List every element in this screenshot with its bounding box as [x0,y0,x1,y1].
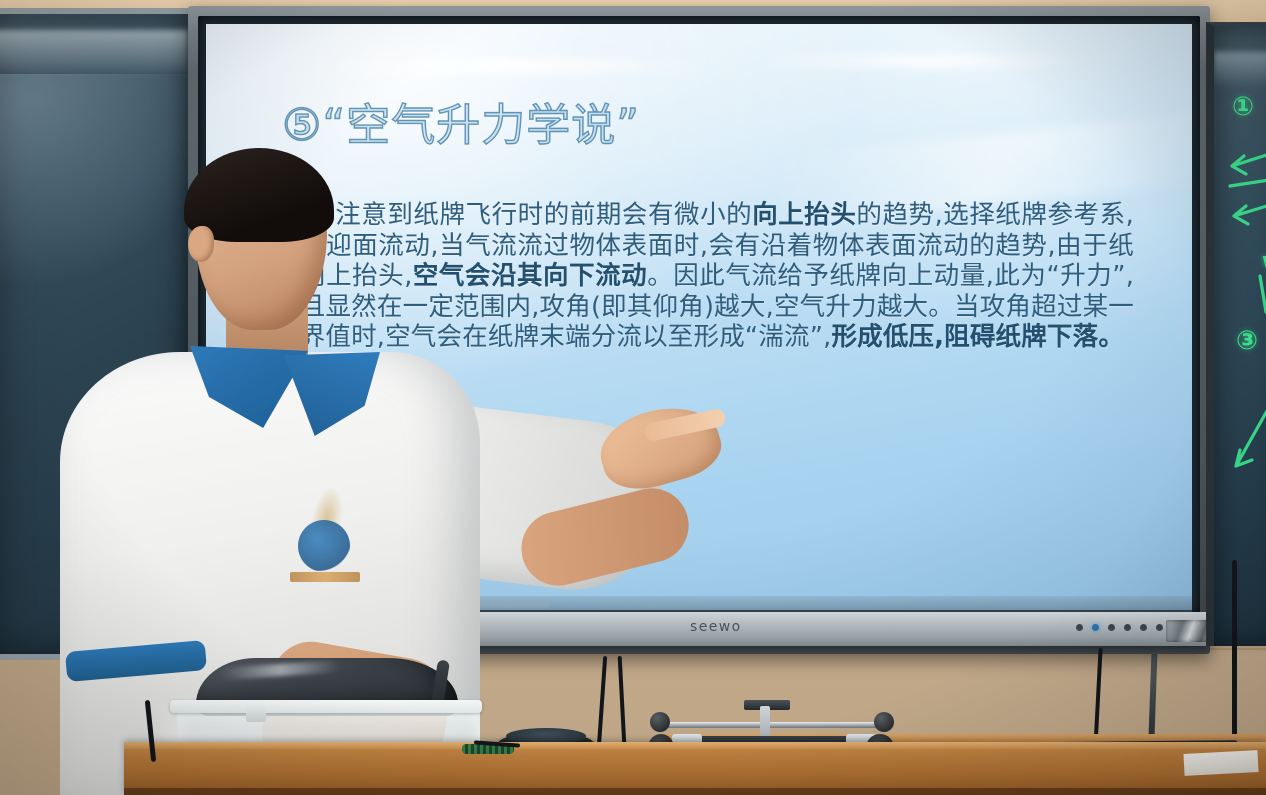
indicator-dot[interactable] [1140,624,1147,631]
indicator-dot-power[interactable] [1092,624,1099,631]
presenter-ear [188,226,214,262]
apparatus-knob-right [874,712,894,732]
panel-indicator-dots[interactable] [1076,624,1179,631]
cable [1232,560,1237,750]
board-glare [0,30,188,74]
paper-sheet-prop [1183,750,1258,776]
indicator-dot[interactable] [1076,624,1083,631]
apparatus-knob-left [650,712,670,732]
chalk-arrows-icon [1214,26,1266,646]
shirt-logo-text [290,572,360,582]
desk-front-edge [124,742,1266,749]
indicator-dot[interactable] [1108,624,1115,631]
indicator-dot[interactable] [1156,624,1163,631]
indicator-dot[interactable] [1124,624,1131,631]
desk-shadow [124,788,1266,795]
right-blackboard-panel: ① w ③ [1206,22,1266,646]
tub-lid [170,700,482,713]
shirt-logo-icon [298,520,350,572]
apparatus-rail [652,722,892,728]
classroom-scene: ⑤“空气升力学说” 来源:注意到纸牌飞行时的前期会有微小的向上抬头的趋势,选择纸… [0,0,1266,795]
tub-clip [246,706,266,722]
